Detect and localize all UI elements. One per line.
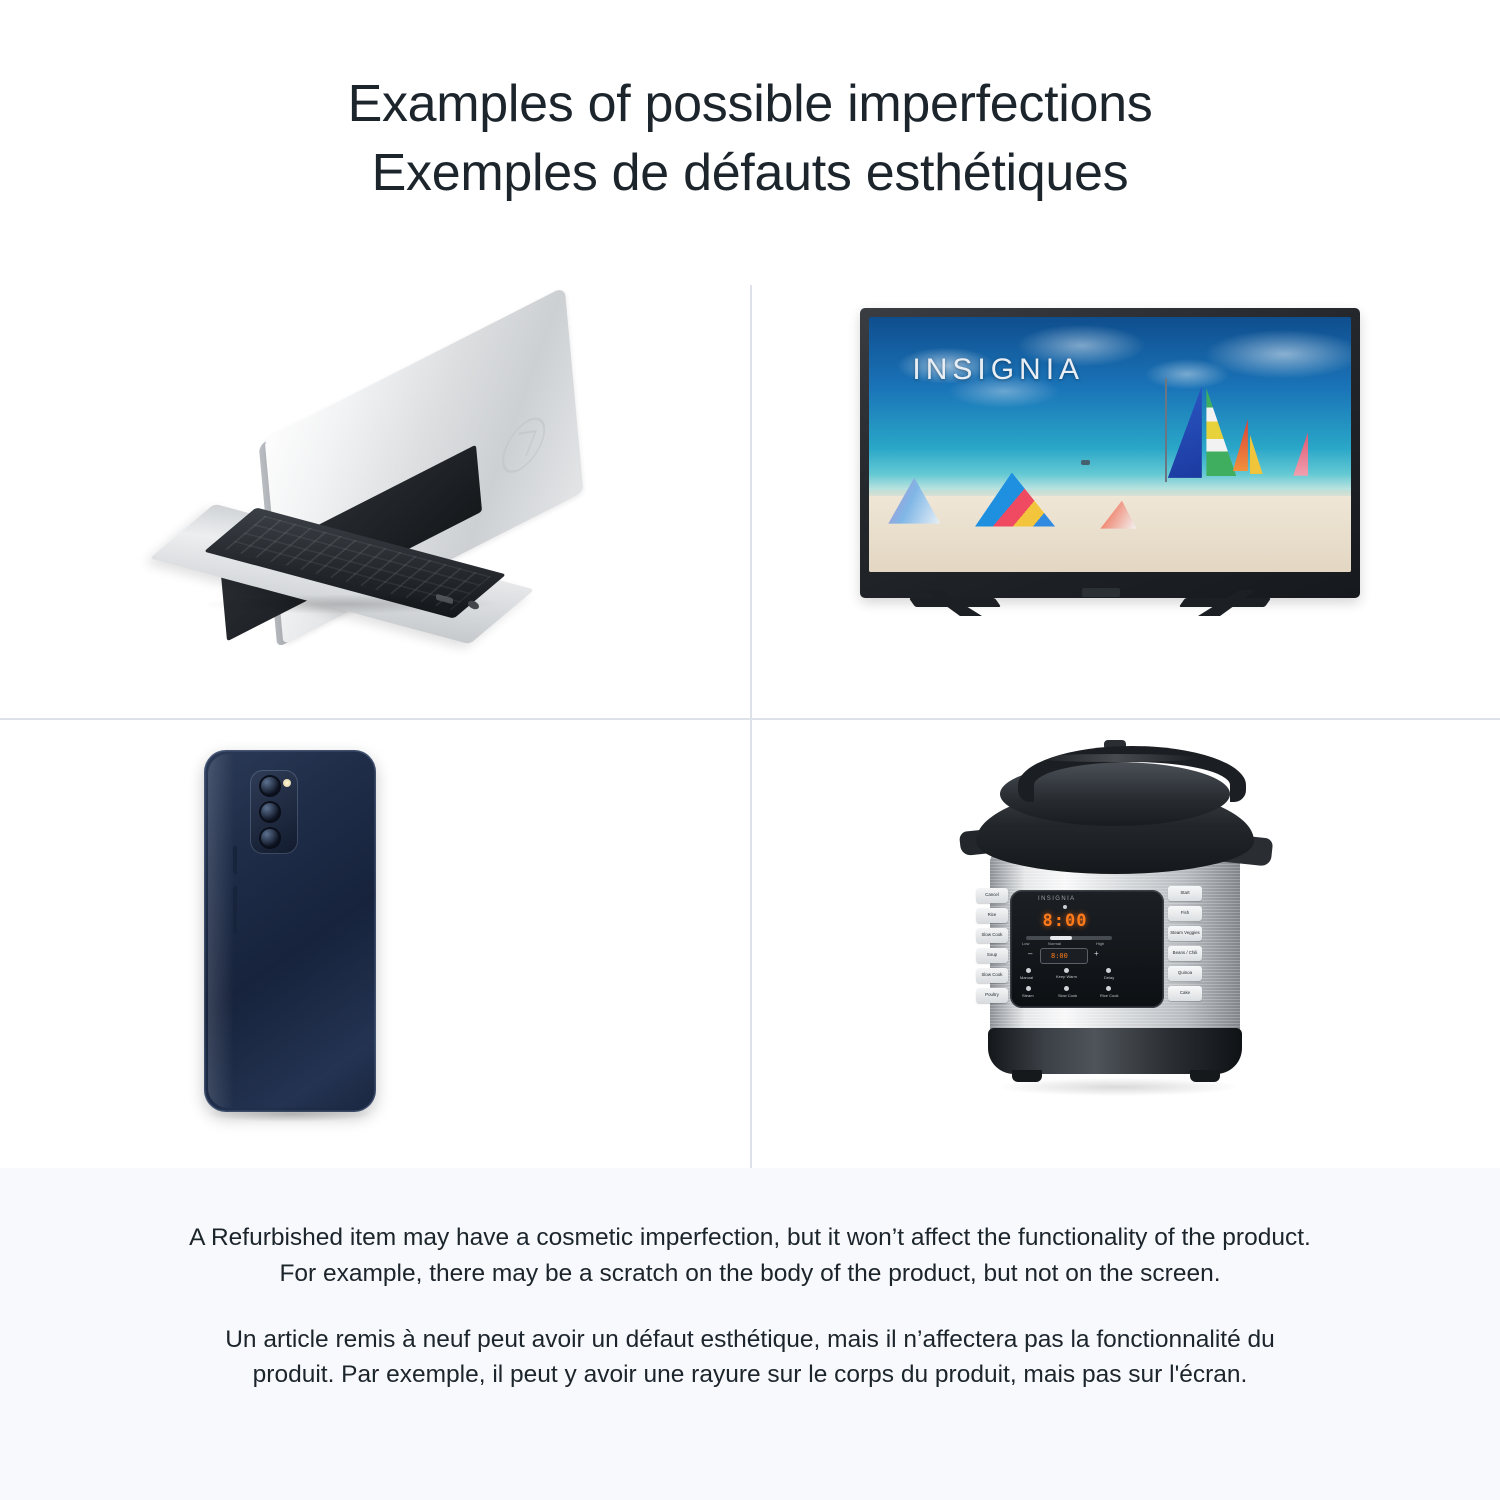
disclaimer-section: A Refurbished item may have a cosmetic i… [0, 1168, 1500, 1500]
cooker-left-button[interactable]: Slow Cook [976, 928, 1008, 943]
tv-stand-right-foot [1179, 598, 1271, 607]
cooker-increase-button[interactable]: + [1094, 949, 1099, 958]
cooker-panel-button[interactable] [1026, 968, 1031, 973]
cooker-time-display: 8:00 [1037, 910, 1093, 932]
tv-sky [869, 317, 1351, 460]
tv-brand-logo: INSIGNIA [912, 353, 1084, 387]
product-cell-pressure-cooker: INSIGNIA 8:00 Low Normal High – 8:00 + [750, 718, 1500, 1168]
page-header: Examples of possible imperfections Exemp… [0, 0, 1500, 268]
cooker-control-panel: INSIGNIA 8:00 Low Normal High – 8:00 + [1010, 890, 1164, 1008]
cooker-inner-label: Rice Cook [1100, 993, 1118, 998]
page-title-fr: Exemples de défauts esthétiques [372, 139, 1129, 208]
cooker-inner-label: Slow Cook [1058, 993, 1077, 998]
cooker-keypad-display: 8:00 [1040, 948, 1088, 964]
cooker-left-button[interactable]: Cancel [976, 888, 1008, 903]
phone-shadow [208, 1106, 372, 1122]
cooker-pressure-slider-fill [1050, 936, 1072, 940]
camera-lens-icon [259, 775, 281, 797]
cooker-inner-label: Delay [1104, 975, 1114, 980]
cooker-inner-label: Steam [1022, 993, 1034, 998]
pressure-cooker-image: INSIGNIA 8:00 Low Normal High – 8:00 + [958, 740, 1288, 1120]
cooker-panel-button[interactable] [1064, 968, 1069, 973]
cooker-left-button[interactable]: Rice [976, 908, 1008, 923]
cooker-left-button[interactable]: Slow Cook [976, 968, 1008, 983]
cooker-panel-button[interactable] [1106, 968, 1111, 973]
cooker-right-button[interactable]: Beans / Chili [1168, 946, 1202, 961]
phone-camera-module [250, 770, 298, 854]
tv-bezel: INSIGNIA [860, 308, 1360, 598]
refurbished-imperfections-infographic: Examples of possible imperfections Exemp… [0, 0, 1500, 1500]
cooker-slider-label-high: High [1096, 941, 1104, 946]
cooker-right-button[interactable]: Fish [1168, 906, 1202, 921]
camera-lens-icon [259, 827, 281, 849]
page-title-en: Examples of possible imperfections [348, 70, 1153, 139]
cooker-base [988, 1028, 1242, 1074]
cooker-handle-highlight [1034, 754, 1198, 762]
phone-edge-highlight [208, 754, 234, 1108]
cooker-inner-label: Manual [1020, 975, 1033, 980]
laptop-shadow [192, 594, 509, 614]
tv-beach [869, 496, 1351, 573]
product-examples-grid: INSIGNIA [0, 268, 1500, 1168]
smartphone-image [172, 750, 432, 1132]
phone-power-button [233, 886, 237, 934]
tv-distant-boat [1081, 460, 1090, 465]
cooker-panel-button[interactable] [1026, 986, 1031, 991]
cooker-slider-label-normal: Normal [1048, 941, 1061, 946]
television-image: INSIGNIA [860, 298, 1380, 658]
camera-lens-icon [259, 801, 281, 823]
product-cell-laptop [0, 268, 750, 718]
cooker-left-button[interactable]: Poultry [976, 988, 1008, 1003]
phone-volume-button [233, 846, 237, 874]
product-cell-television: INSIGNIA [750, 268, 1500, 718]
cooker-panel-button[interactable] [1106, 986, 1111, 991]
cooker-keypad-value: 8:00 [1051, 952, 1068, 960]
tv-mast [1165, 378, 1167, 482]
cooker-slider-label-low: Low [1022, 941, 1029, 946]
disclaimer-paragraph-en: A Refurbished item may have a cosmetic i… [185, 1220, 1315, 1292]
disclaimer-paragraph-fr: Un article remis à neuf peut avoir un dé… [185, 1322, 1315, 1394]
cooker-shadow [998, 1078, 1238, 1096]
product-cell-smartphone [0, 718, 750, 1168]
cooker-panel-button[interactable] [1064, 986, 1069, 991]
camera-flash-icon [283, 779, 291, 787]
cooker-right-button-column: Start Fish Steam Veggies Beans / Chili Q… [1168, 886, 1202, 1012]
phone-back-panel [204, 750, 376, 1112]
cooker-right-button[interactable]: Cake [1168, 986, 1202, 1001]
cooker-decrease-button[interactable]: – [1028, 949, 1032, 958]
cooker-indicator-light [1063, 905, 1067, 909]
cooker-inner-label: Keep Warm [1056, 974, 1077, 979]
cooker-right-button[interactable]: Quinoa [1168, 966, 1202, 981]
cooker-right-button[interactable]: Steam Veggies [1168, 926, 1202, 941]
cooker-brand-logo: INSIGNIA [1038, 896, 1076, 902]
laptop-brand-logo-icon [500, 406, 547, 484]
laptop-image [190, 358, 610, 648]
cooker-left-button[interactable]: Soup [976, 948, 1008, 963]
cooker-right-button[interactable]: Start [1168, 886, 1202, 901]
cooker-left-button-column: Cancel Rice Slow Cook Soup Slow Cook Pou… [976, 888, 1008, 1010]
tv-sea [869, 450, 1351, 491]
tv-center-badge [1082, 588, 1120, 597]
tv-stand-left-foot [909, 598, 1001, 607]
tv-screen: INSIGNIA [869, 317, 1351, 572]
